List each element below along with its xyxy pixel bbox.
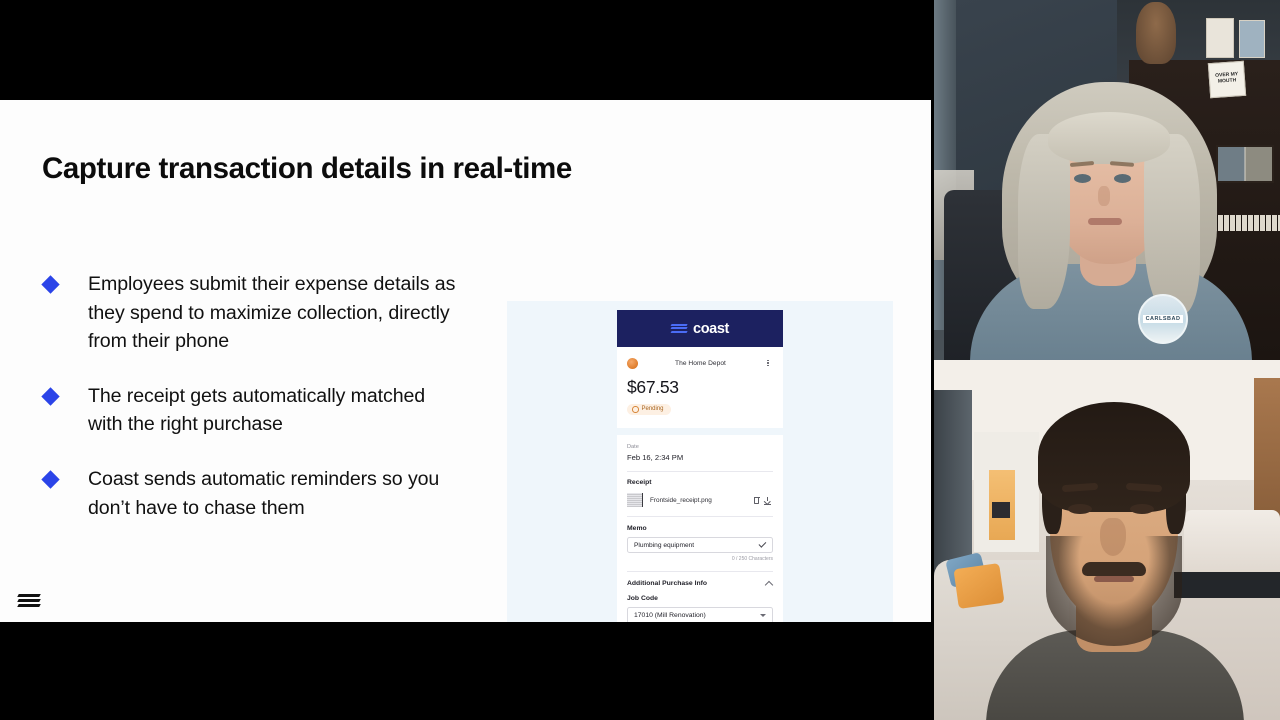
nose [1098, 186, 1110, 206]
coast-logo-icon [18, 592, 42, 608]
download-icon[interactable] [762, 495, 773, 506]
eye [1074, 174, 1091, 183]
job-code-label: Job Code [627, 595, 773, 602]
eye [1130, 504, 1154, 514]
merchant-avatar-icon [627, 358, 638, 369]
receipt-row: Frontside_receipt.png [627, 493, 773, 507]
nose [1100, 518, 1126, 556]
video-tile-bottom[interactable] [934, 360, 1280, 720]
mouth [1088, 218, 1122, 225]
memo-value: Plumbing equipment [634, 542, 758, 549]
kebab-menu-icon[interactable] [763, 360, 773, 367]
shared-screen-area: Capture transaction details in real-time… [0, 0, 934, 720]
mustache [1082, 562, 1146, 576]
diamond-bullet-icon [41, 387, 59, 405]
shirt-badge-label: CARLSBAD [1143, 315, 1184, 323]
bullet-list: Employees submit their expense details a… [44, 270, 464, 522]
receipt-filename: Frontside_receipt.png [650, 497, 751, 504]
memo-label: Memo [627, 525, 773, 532]
transaction-details: Date Feb 16, 2:34 PM Receipt Frontside_r… [617, 435, 783, 623]
receipt-label: Receipt [627, 479, 773, 486]
divider [627, 471, 773, 472]
additional-purchase-info-label: Additional Purchase Info [627, 580, 707, 587]
background-picture [992, 502, 1010, 518]
bullet-text: The receipt gets automatically matched w… [88, 382, 464, 439]
product-screenshot-panel: coast The Home Depot $67.53 Pending [507, 301, 893, 622]
avatar [1020, 386, 1210, 720]
chevron-up-icon[interactable] [765, 580, 773, 588]
hair [1038, 402, 1190, 512]
meeting-screen: Capture transaction details in real-time… [0, 0, 1280, 720]
date-value: Feb 16, 2:34 PM [627, 453, 773, 462]
clock-icon [632, 406, 639, 413]
background-teddy-bear [1136, 2, 1176, 64]
hair-left [1018, 134, 1070, 309]
transaction-summary: The Home Depot $67.53 Pending [617, 347, 783, 428]
chevron-down-icon[interactable] [760, 614, 766, 617]
memo-input[interactable]: Plumbing equipment [627, 537, 773, 553]
background-pillow-orange [953, 563, 1004, 609]
page-title: Capture transaction details in real-time [42, 152, 572, 186]
coast-logo-icon [671, 323, 688, 335]
diamond-bullet-icon [41, 275, 59, 293]
app-wordmark: coast [693, 321, 729, 337]
job-code-select[interactable]: 17010 (Mill Renovation) [627, 607, 773, 622]
eye [1114, 174, 1131, 183]
divider [627, 571, 773, 572]
hair-right [1144, 134, 1200, 314]
list-item: The receipt gets automatically matched w… [44, 382, 464, 439]
additional-purchase-info-header[interactable]: Additional Purchase Info [627, 580, 773, 588]
bullet-text: Employees submit their expense details a… [88, 270, 464, 356]
bullet-text: Coast sends automatic reminders so you d… [88, 465, 464, 522]
receipt-thumbnail-icon[interactable] [627, 493, 643, 507]
merchant-row: The Home Depot [627, 356, 773, 370]
merchant-name: The Home Depot [638, 360, 763, 367]
video-tile-top[interactable]: OVER MYMOUTH CARLSBAD [934, 0, 1280, 360]
transaction-amount: $67.53 [627, 377, 773, 398]
background-picture-frame [1239, 20, 1265, 58]
check-icon [758, 541, 766, 549]
mobile-app-card: coast The Home Depot $67.53 Pending [617, 310, 783, 622]
status-label: Pending [642, 406, 664, 412]
mouth [1094, 576, 1134, 582]
background-picture-frame [1206, 18, 1234, 58]
trash-icon[interactable] [751, 495, 762, 506]
date-label: Date [627, 444, 773, 450]
list-item: Employees submit their expense details a… [44, 270, 464, 356]
app-header: coast [617, 310, 783, 347]
presentation-slide: Capture transaction details in real-time… [0, 100, 931, 622]
section-gap [617, 428, 783, 435]
job-code-value: 17010 (Mill Renovation) [634, 612, 760, 619]
list-item: Coast sends automatic reminders so you d… [44, 465, 464, 522]
memo-character-counter: 0 / 250 Characters [627, 556, 773, 562]
status-badge: Pending [627, 404, 671, 415]
hair-bangs [1048, 112, 1170, 164]
divider [627, 516, 773, 517]
eye [1068, 504, 1092, 514]
diamond-bullet-icon [41, 470, 59, 488]
avatar: CARLSBAD [992, 82, 1227, 360]
shirt-badge: CARLSBAD [1138, 294, 1188, 344]
